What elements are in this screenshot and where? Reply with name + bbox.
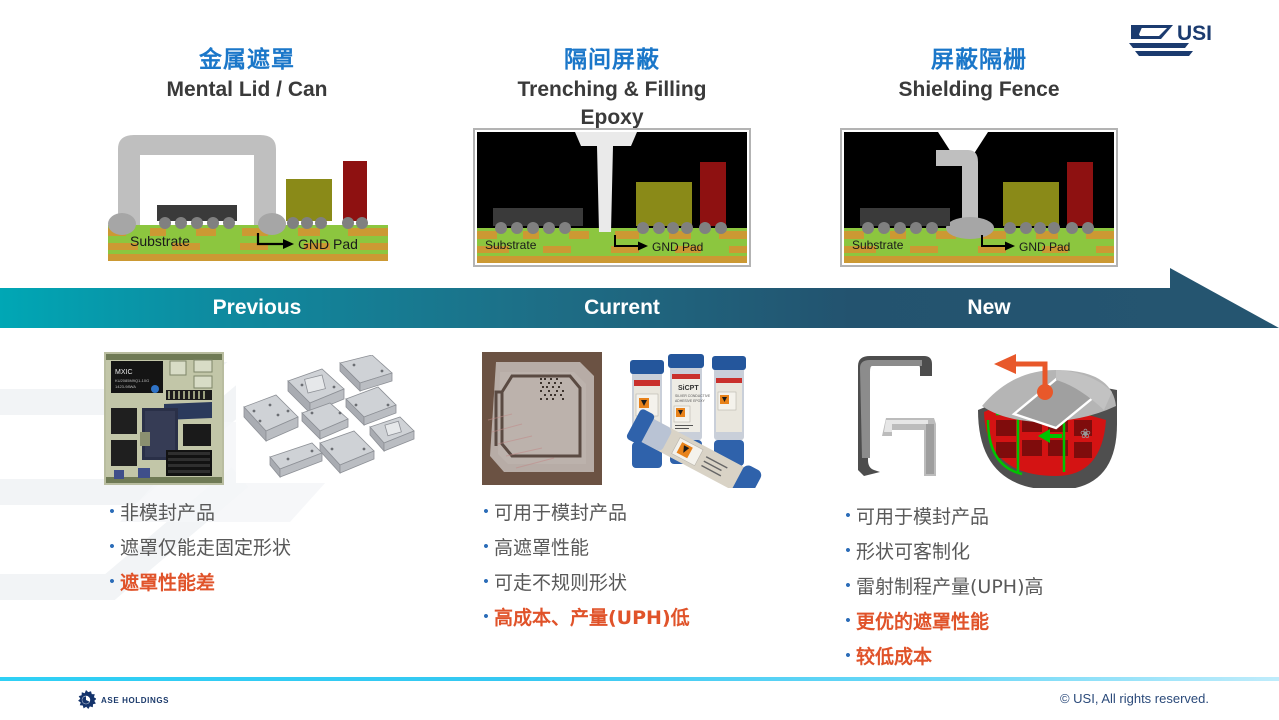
column-header-current: 隔间屏蔽 Trenching & Filling Epoxy (487, 44, 737, 132)
bullet-text: 非模封产品 (120, 500, 215, 526)
bullet-dot-icon: • (478, 570, 494, 594)
bullet-text: 较低成本 (856, 644, 932, 670)
trenched-module-photo (482, 352, 602, 485)
svg-text:USI: USI (1177, 22, 1212, 45)
bullet-dot-icon: • (104, 570, 120, 594)
column-title-en: Mental Lid / Can (122, 76, 372, 104)
svg-text:ADHESIVE EPOXY: ADHESIVE EPOXY (675, 399, 706, 403)
svg-text:GND Pad: GND Pad (652, 240, 703, 254)
column-header-previous: 金属遮罩 Mental Lid / Can (122, 44, 372, 104)
bullet-list-previous: • 非模封产品 • 遮罩仅能走固定形状 • 遮罩性能差 (104, 500, 434, 605)
bullet-dot-icon: • (840, 609, 856, 633)
svg-text:❀: ❀ (1080, 426, 1091, 441)
stage-label-current: Current (497, 288, 747, 328)
list-item: • 遮罩性能差 (104, 570, 434, 596)
bullet-text: 高遮罩性能 (494, 535, 589, 561)
list-item: • 雷射制程产量(UPH)高 (840, 574, 1190, 600)
ase-gear-icon (76, 690, 96, 710)
bullet-text: 可用于模封产品 (856, 504, 989, 530)
bullet-dot-icon: • (840, 504, 856, 528)
list-item: • 非模封产品 (104, 500, 434, 526)
list-item: • 可走不规则形状 (478, 570, 818, 596)
svg-text:GND Pad: GND Pad (1019, 240, 1070, 254)
bullet-dot-icon: • (478, 605, 494, 629)
list-item: • 遮罩仅能走固定形状 (104, 535, 434, 561)
bullet-dot-icon: • (840, 644, 856, 668)
bullet-dot-icon: • (840, 574, 856, 598)
list-item: • 高遮罩性能 (478, 535, 818, 561)
bullet-list-current: • 可用于模封产品 • 高遮罩性能 • 可走不规则形状 • 高成本、产量(UPH… (478, 500, 818, 640)
svg-text:1423-98WA: 1423-98WA (115, 384, 136, 389)
bullet-dot-icon: • (478, 535, 494, 559)
bullet-text: 更优的遮罩性能 (856, 609, 989, 635)
stage-label-previous: Previous (132, 288, 382, 328)
list-item: • 更优的遮罩性能 (840, 609, 1190, 635)
bullet-text: 遮罩仅能走固定形状 (120, 535, 291, 561)
bullet-list-new: • 可用于模封产品 • 形状可客制化 • 雷射制程产量(UPH)高 • 更优的遮… (840, 504, 1190, 679)
ase-holdings-logo: ASE HOLDINGS (76, 689, 226, 711)
list-item: • 高成本、产量(UPH)低 (478, 605, 818, 631)
bullet-dot-icon: • (104, 535, 120, 559)
svg-text:Substrate: Substrate (130, 233, 190, 249)
bullet-text: 可走不规则形状 (494, 570, 627, 596)
diagram-shielding-fence: Substrate GND Pad (840, 128, 1118, 267)
bullet-text: 高成本、产量(UPH)低 (494, 605, 690, 631)
bullet-dot-icon: • (104, 500, 120, 524)
diagram-metal-lid-can: Substrate GND Pad (108, 127, 388, 265)
svg-text:SILVER CONDUCTIVE: SILVER CONDUCTIVE (675, 394, 711, 398)
svg-text:Substrate: Substrate (485, 238, 537, 252)
metal-shielding-cans-photo (236, 355, 416, 483)
conductive-epoxy-syringes-photo: SiCPT SILVER CONDUCTIVE ADHESIVE EPOXY (618, 350, 770, 488)
column-title-en: Shielding Fence (854, 76, 1104, 104)
stage-banner-arrowhead (1170, 268, 1279, 349)
bullet-text: 遮罩性能差 (120, 570, 215, 596)
svg-text:MXIC: MXIC (115, 369, 133, 376)
svg-text:SiCPT: SiCPT (678, 385, 699, 392)
column-title-cn: 屏蔽隔栅 (854, 44, 1104, 74)
column-header-new: 屏蔽隔栅 Shielding Fence (854, 44, 1104, 104)
svg-text:Substrate: Substrate (852, 238, 904, 252)
pcb-module-photo: MXIC KU2085M9Q1-10G 1423-98WA (104, 352, 224, 485)
list-item: • 可用于模封产品 (840, 504, 1190, 530)
bullet-text: 形状可客制化 (856, 539, 970, 565)
list-item: • 较低成本 (840, 644, 1190, 670)
stage-label-new: New (864, 288, 1114, 328)
bullet-text: 雷射制程产量(UPH)高 (856, 574, 1043, 600)
column-title-cn: 隔间屏蔽 (487, 44, 737, 74)
slide-root: USI 金属遮罩 Mental Lid / Can 隔间屏蔽 Trenching… (0, 0, 1279, 720)
svg-text:GND Pad: GND Pad (298, 236, 358, 252)
wafer-cutaway-render-photo: ❀ (952, 350, 1117, 488)
bullet-dot-icon: • (840, 539, 856, 563)
shielding-fence-profile-photo (846, 352, 944, 485)
usi-logo: USI (1127, 17, 1223, 59)
bullet-dot-icon: • (478, 500, 494, 524)
column-title-cn: 金属遮罩 (122, 44, 372, 74)
copyright-text: © USI, All rights reserved. (1060, 691, 1209, 706)
bullet-text: 可用于模封产品 (494, 500, 627, 526)
list-item: • 形状可客制化 (840, 539, 1190, 565)
list-item: • 可用于模封产品 (478, 500, 818, 526)
diagram-trenching-filling-epoxy: Substrate GND Pad (473, 128, 751, 267)
svg-text:KU2085M9Q1-10G: KU2085M9Q1-10G (115, 378, 149, 383)
ase-holdings-label: ASE HOLDINGS (101, 696, 169, 705)
column-title-en: Trenching & Filling Epoxy (487, 76, 737, 132)
